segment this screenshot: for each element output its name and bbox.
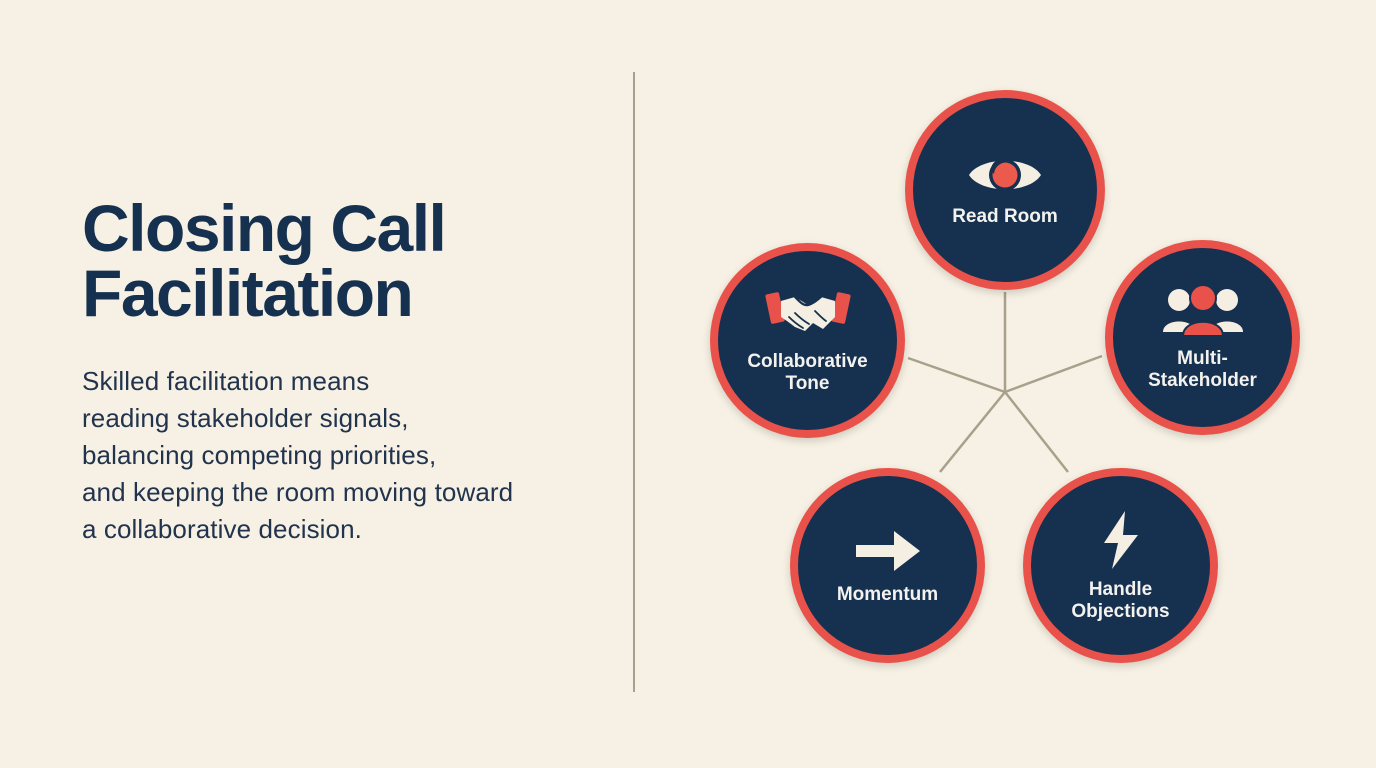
node-label: Handle Objections <box>1061 579 1179 623</box>
radial-diagram: Read Room Collaborative Tone <box>640 0 1376 768</box>
page-title: Closing Call Facilitation <box>82 196 582 325</box>
connector-momentum <box>940 392 1005 472</box>
page-subtitle: Skilled facilitation means reading stake… <box>82 363 582 548</box>
node-momentum[interactable]: Momentum <box>790 468 985 663</box>
node-handle-objections[interactable]: Handle Objections <box>1023 468 1218 663</box>
node-label: Collaborative Tone <box>737 351 877 395</box>
node-collaborative-tone[interactable]: Collaborative Tone <box>710 243 905 438</box>
slide-canvas: Closing Call Facilitation Skilled facili… <box>0 0 1376 768</box>
connector-handle-obj <box>1005 392 1068 472</box>
node-label: Multi- Stakeholder <box>1138 348 1267 392</box>
connector-multi-stake <box>1005 356 1102 392</box>
connector-collab-tone <box>908 358 1005 392</box>
vertical-divider <box>633 72 635 692</box>
group-people-icon <box>1161 284 1245 340</box>
node-label: Read Room <box>942 206 1068 228</box>
left-text-panel: Closing Call Facilitation Skilled facili… <box>82 196 582 548</box>
eye-icon <box>967 152 1043 198</box>
arrow-right-icon <box>852 526 924 576</box>
node-multi-stakeholder[interactable]: Multi- Stakeholder <box>1105 240 1300 435</box>
handshake-icon <box>765 287 851 343</box>
lightning-bolt-icon <box>1098 509 1144 571</box>
node-label: Momentum <box>827 584 948 606</box>
node-read-room[interactable]: Read Room <box>905 90 1105 290</box>
